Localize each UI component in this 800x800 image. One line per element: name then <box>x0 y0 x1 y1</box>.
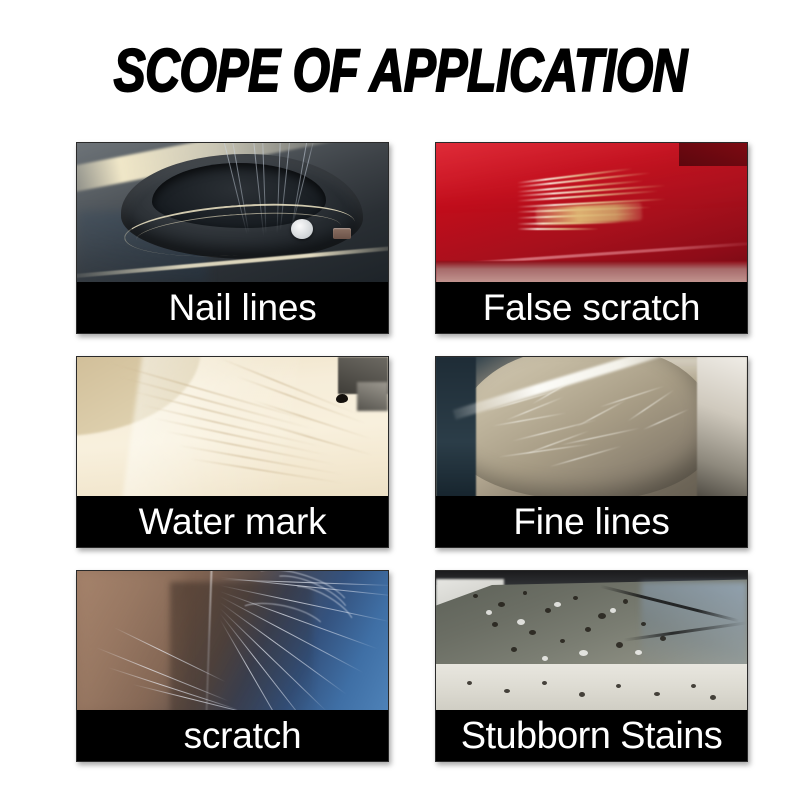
tile-stubborn-stains[interactable]: Stubborn Stains <box>435 570 748 762</box>
application-scope-grid: Nail lines <box>76 142 748 762</box>
photo-fine-lines <box>436 357 747 498</box>
tile-false-scratch[interactable]: False scratch <box>435 142 748 334</box>
caption-band-false-scratch: False scratch <box>436 282 747 333</box>
photo-scratch <box>77 571 388 712</box>
debris-speck-icon <box>336 394 348 403</box>
car-hood-light <box>436 664 747 712</box>
panel-shadow-corner <box>679 143 747 166</box>
infographic-page: SCOPE OF APPLICATION <box>0 0 800 800</box>
caption-band-nail-lines: Nail lines <box>77 282 388 333</box>
photo-water-mark <box>77 357 388 498</box>
tile-scratch[interactable]: scratch <box>76 570 389 762</box>
ground-strip <box>436 261 747 284</box>
caption-label: scratch <box>184 716 302 756</box>
tile-water-mark[interactable]: Water mark <box>76 356 389 548</box>
caption-label: False scratch <box>483 288 700 328</box>
caption-label: Fine lines <box>513 502 669 542</box>
caption-band-fine-lines: Fine lines <box>436 496 747 547</box>
page-title: SCOPE OF APPLICATION <box>113 40 686 102</box>
handle-keyhole-icon <box>333 228 351 239</box>
photo-stubborn-stains <box>436 571 747 712</box>
dark-window-edge <box>436 357 476 498</box>
blurred-foreground <box>77 571 183 712</box>
tile-fine-lines[interactable]: Fine lines <box>435 356 748 548</box>
caption-label: Water mark <box>139 502 327 542</box>
caption-label: Stubborn Stains <box>461 716 722 756</box>
car-body-right <box>697 357 747 498</box>
photo-false-scratch <box>436 143 747 284</box>
caption-band-scratch: scratch <box>77 710 388 761</box>
background-corner-secondary <box>357 382 388 410</box>
page-title-wrap: SCOPE OF APPLICATION <box>0 40 800 102</box>
caption-band-water-mark: Water mark <box>77 496 388 547</box>
caption-band-stubborn-stains: Stubborn Stains <box>436 710 747 761</box>
caption-label: Nail lines <box>168 288 316 328</box>
photo-nail-lines <box>77 143 388 284</box>
tile-nail-lines[interactable]: Nail lines <box>76 142 389 334</box>
